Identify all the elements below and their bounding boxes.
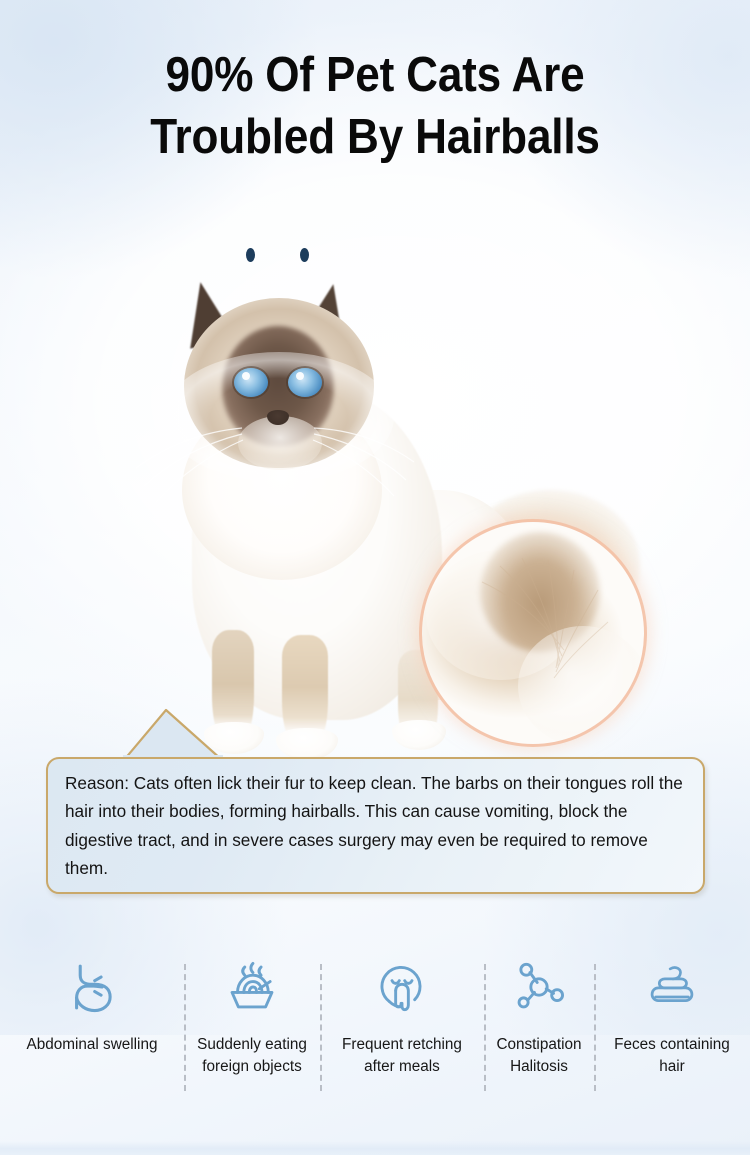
cat-left-eye-glint (242, 372, 250, 380)
symptom-divider (484, 964, 486, 1091)
stomach-icon (63, 958, 121, 1016)
symptom-item-foreign-objects[interactable]: Suddenly eating foreign objects (184, 936, 320, 1078)
hero-photo (0, 210, 750, 750)
symptom-label: Constipation Halitosis (496, 1034, 581, 1078)
molecule-icon (510, 958, 568, 1016)
cat-left-eye (234, 368, 268, 397)
symptoms-strip: Abdominal swelling Suddenly eating forei… (0, 936, 750, 1111)
symptom-divider (320, 964, 322, 1091)
symptom-label: Suddenly eating foreign objects (197, 1034, 307, 1078)
cat-right-eye (288, 368, 322, 397)
page-title: 90% Of Pet Cats Are Troubled By Hairball… (38, 44, 713, 168)
magnified-fur-strands (422, 522, 644, 744)
noodle-bowl-icon (223, 958, 281, 1016)
cat-front-right-paw (276, 728, 338, 760)
stool-icon (643, 958, 701, 1016)
symptom-divider (594, 964, 596, 1091)
symptom-item-abdominal-swelling[interactable]: Abdominal swelling (0, 936, 184, 1056)
bottom-gradient-band (0, 1141, 750, 1155)
symptom-item-retching[interactable]: Frequent retching after meals (320, 936, 484, 1078)
symptom-label: Abdominal swelling (27, 1034, 158, 1056)
cat-right-pupil (300, 248, 309, 262)
magnifier-circle (422, 522, 644, 744)
cat-left-pupil (246, 248, 255, 262)
symptom-item-constipation-halitosis[interactable]: Constipation Halitosis (484, 936, 594, 1078)
reason-callout: Reason: Cats often lick their fur to kee… (46, 757, 705, 894)
symptom-item-feces-hair[interactable]: Feces containing hair (594, 936, 750, 1078)
cat-right-eye-glint (296, 372, 304, 380)
symptom-divider (184, 964, 186, 1091)
reason-callout-text: Reason: Cats often lick their fur to kee… (65, 769, 689, 883)
symptom-label: Feces containing hair (614, 1034, 730, 1078)
symptom-label: Frequent retching after meals (342, 1034, 462, 1078)
infographic-page: 90% Of Pet Cats Are Troubled By Hairball… (0, 0, 750, 1155)
vomiting-face-icon (373, 958, 431, 1016)
